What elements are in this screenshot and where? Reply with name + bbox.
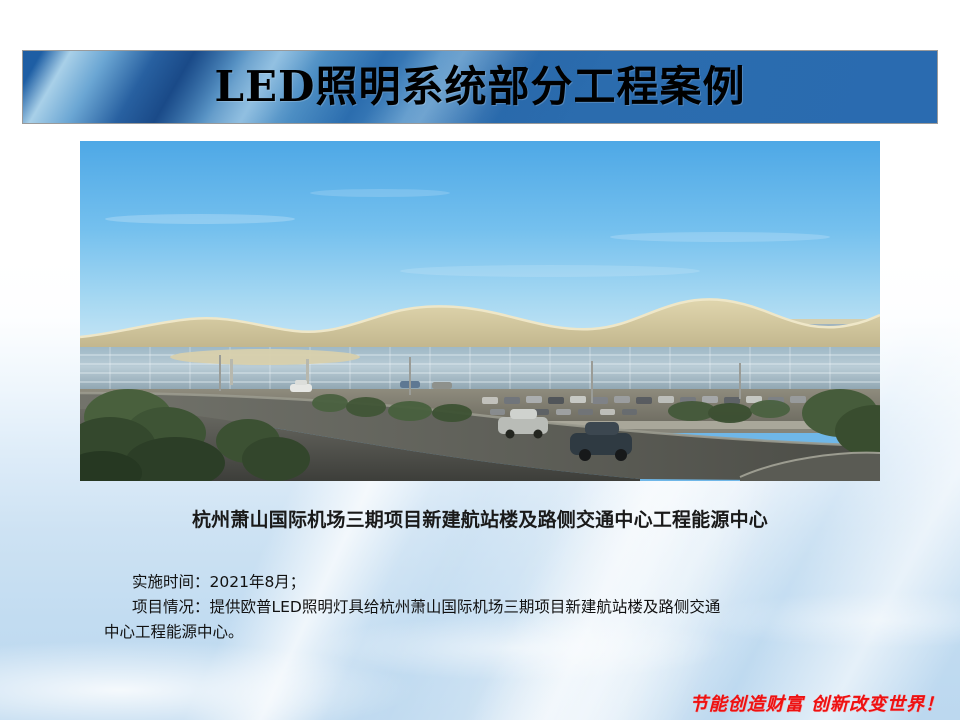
page-title: LED照明系统部分工程案例 [215,66,746,108]
photo-caption: 杭州萧山国际机场三期项目新建航站楼及路侧交通中心工程能源中心 [0,505,960,532]
title-banner: LED照明系统部分工程案例 [22,50,938,124]
body-text: 实施时间：2021年8月； 项目情况：提供欧普LED照明灯具给杭州萧山国际机场三… [104,570,844,645]
project-photo-illustration [80,141,880,481]
body-line-project-overview: 项目情况：提供欧普LED照明灯具给杭州萧山国际机场三期项目新建航站楼及路侧交通 [104,595,844,620]
slide-root: LED照明系统部分工程案例 [0,0,960,720]
footer-slogan: 节能创造财富 创新改变世界！ [690,690,944,716]
body-line-implementation-time: 实施时间：2021年8月； [104,570,844,595]
car-grey-upper [432,382,452,389]
body-line-project-overview-cont: 中心工程能源中心。 [104,620,844,645]
project-photo [80,141,880,481]
